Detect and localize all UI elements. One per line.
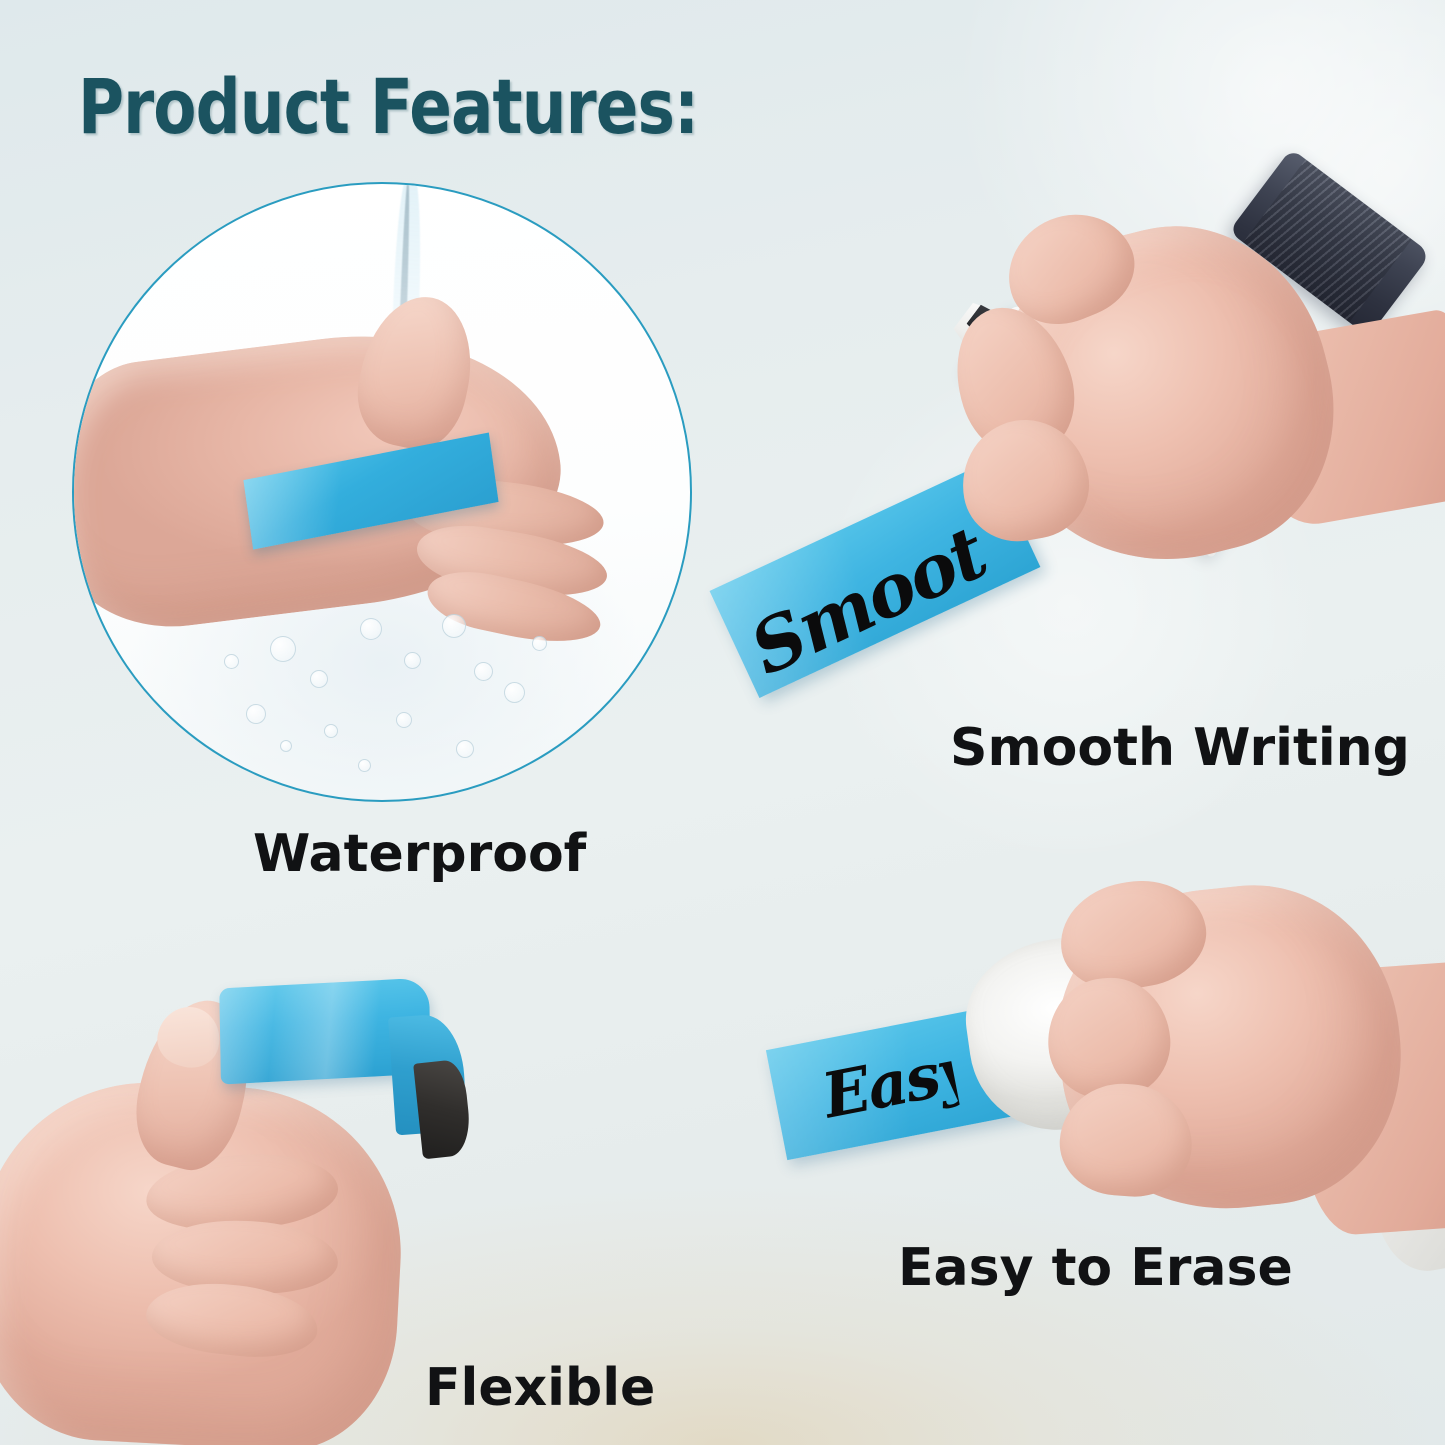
water-bubble-icon <box>504 682 525 703</box>
water-bubble-icon <box>442 614 466 638</box>
waterproof-photo <box>72 182 692 802</box>
water-bubble-icon <box>474 662 493 681</box>
smooth-writing-photo: Smoot FINE ART Color Marker Art No: 3000… <box>700 120 1445 820</box>
water-bubble-icon <box>456 740 474 758</box>
feature-label-smooth-writing: Smooth Writing <box>950 718 1410 778</box>
easy-to-erase-photo: Easy <box>760 870 1445 1290</box>
feature-label-waterproof: Waterproof <box>253 824 586 884</box>
water-bubble-icon <box>224 654 239 669</box>
feature-label-flexible: Flexible <box>425 1358 655 1418</box>
water-bubble-icon <box>360 618 382 640</box>
water-bubble-icon <box>324 724 338 738</box>
water-bubble-icon <box>358 759 371 772</box>
feature-label-easy-to-erase: Easy to Erase <box>898 1238 1293 1298</box>
water-bubble-icon <box>310 670 328 688</box>
water-bubble-icon <box>532 636 547 651</box>
water-bubble-icon <box>270 636 296 662</box>
water-bubble-icon <box>246 704 266 724</box>
water-bubble-icon <box>280 740 292 752</box>
infographic-canvas: Product Features: Waterproof Smoot <box>0 0 1445 1445</box>
page-title: Product Features: <box>78 62 698 151</box>
water-bubble-icon <box>404 652 421 669</box>
water-bubble-icon <box>396 712 412 728</box>
